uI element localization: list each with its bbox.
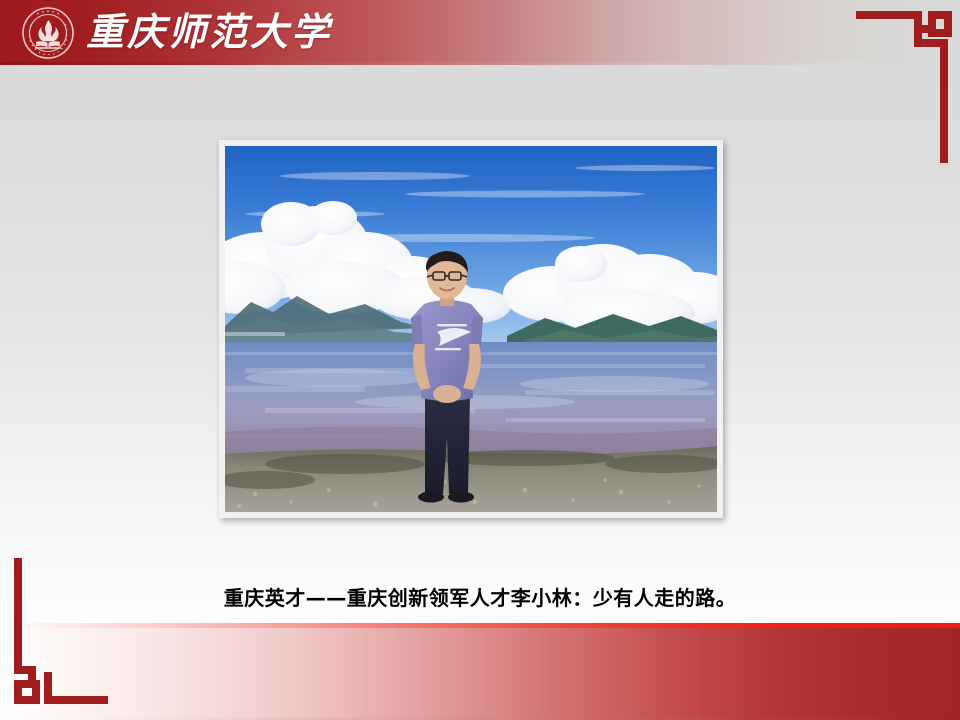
footer-accent-line xyxy=(0,623,960,628)
university-name-title: 重庆师范大学 xyxy=(86,8,332,58)
photo-frame xyxy=(219,140,723,518)
header-band-underline xyxy=(0,62,960,65)
presentation-slide: 重庆师范大学 xyxy=(0,0,960,720)
lakeside-portrait-photo xyxy=(225,146,717,512)
bottom-left-meander-ornament-icon xyxy=(0,550,120,720)
footer-band xyxy=(0,624,960,720)
university-logo-icon xyxy=(22,7,74,59)
top-right-meander-ornament-icon xyxy=(840,0,960,170)
slide-caption: 重庆英才——重庆创新领军人才李小林：少有人走的路。 xyxy=(0,582,960,611)
